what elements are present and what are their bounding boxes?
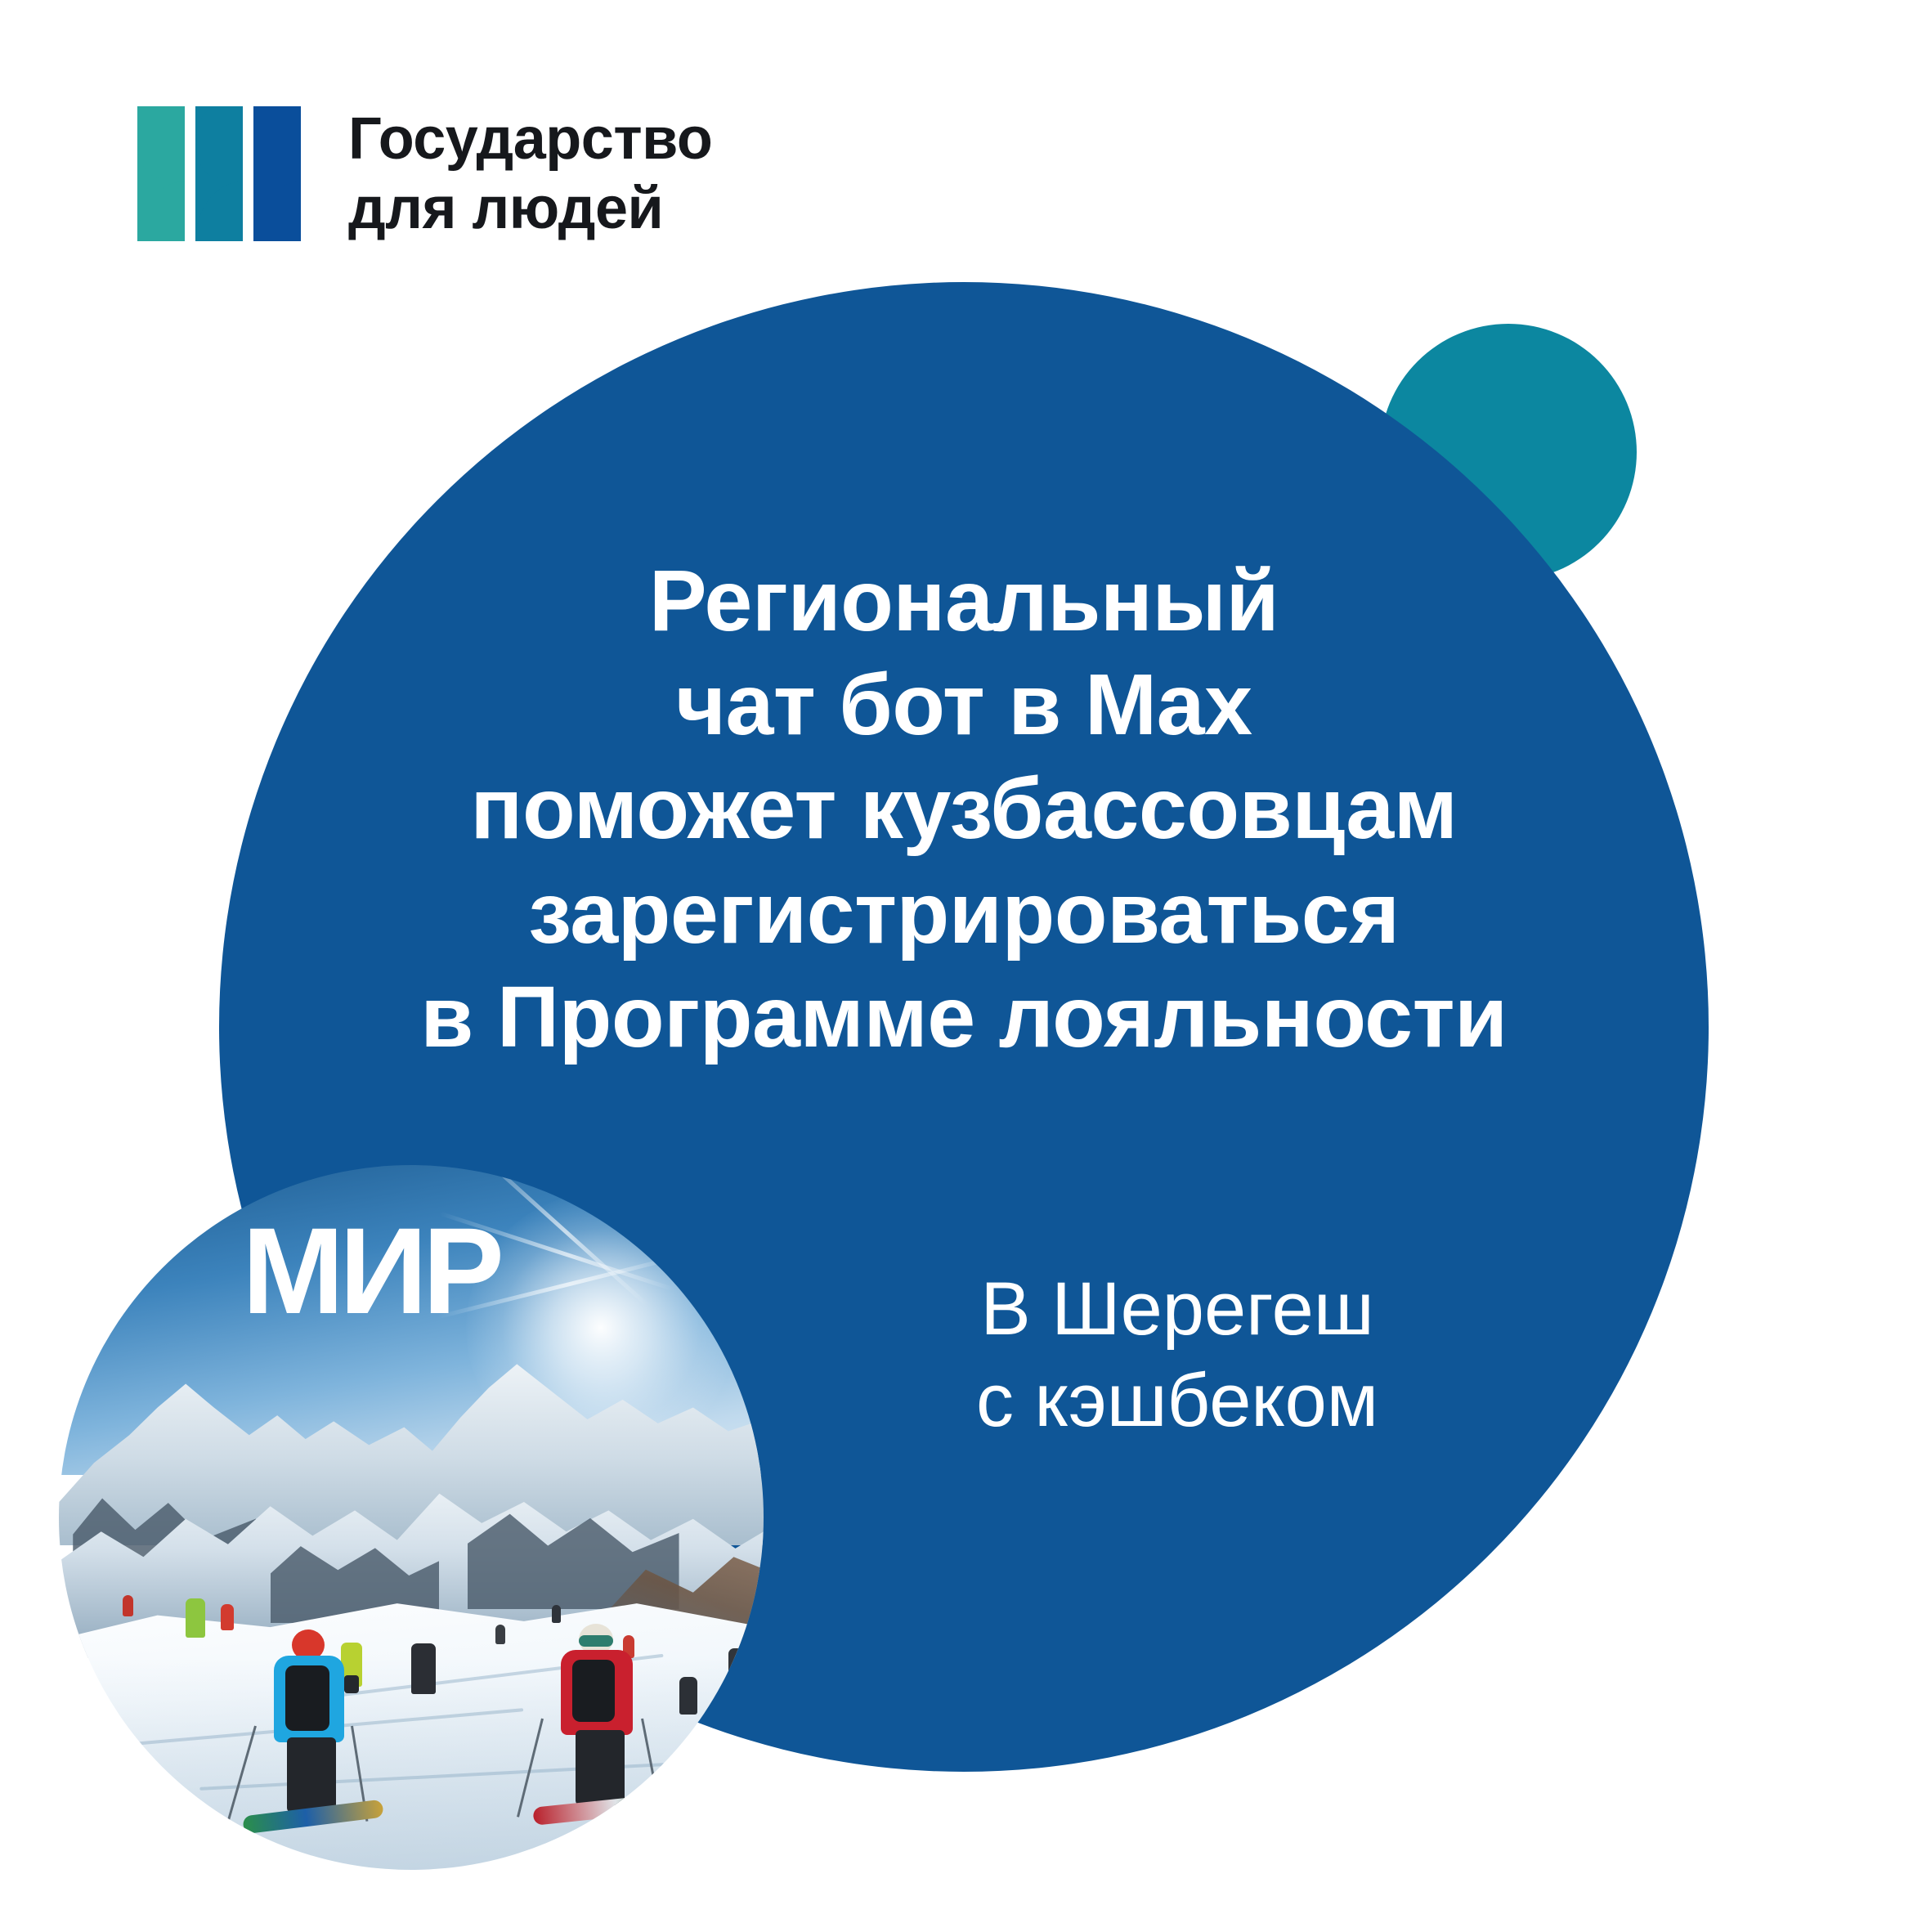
skier-red-jacket xyxy=(538,1624,661,1835)
distant-skier xyxy=(186,1598,205,1638)
subtitle-line-2: с кэшбеком xyxy=(858,1355,1496,1446)
headline-line-3: поможет кузбассовцам xyxy=(219,757,1709,861)
distant-skier xyxy=(552,1605,561,1623)
government-for-people-logo-icon xyxy=(137,106,301,241)
headline-line-5: в Программе лояльности xyxy=(219,966,1709,1069)
mid-skier-right xyxy=(679,1677,697,1715)
headline-line-4: зарегистрироваться xyxy=(219,862,1709,966)
subtitle-line-1: В Шерегеш xyxy=(858,1263,1496,1355)
mid-skier-right xyxy=(728,1648,743,1679)
logo-arc-teal xyxy=(137,106,185,241)
ski-photo-medallion: МИР xyxy=(59,1165,764,1870)
distant-skier xyxy=(495,1625,505,1644)
mid-skier-dark xyxy=(411,1643,436,1694)
headline-line-2: чат бот в Max xyxy=(219,653,1709,757)
logo-arc-dark-blue xyxy=(253,106,301,241)
brand-wordmark: Государство для людей xyxy=(348,105,712,244)
distant-skier xyxy=(123,1595,133,1616)
logo-arc-blue-teal xyxy=(195,106,243,241)
mir-wordmark: МИР xyxy=(242,1214,500,1327)
ski-scene-image: МИР xyxy=(59,1165,764,1870)
brand-logo: Государство для людей xyxy=(137,105,712,244)
headline-line-1: Региональный xyxy=(219,549,1709,653)
headline: Региональный чат бот в Max поможет кузба… xyxy=(219,549,1709,1069)
mir-payment-system-logo: МИР xyxy=(242,1214,500,1327)
distant-skier xyxy=(221,1604,234,1630)
subtitle: В Шерегеш с кэшбеком xyxy=(858,1263,1496,1446)
snowboarder-blue-jacket xyxy=(249,1629,372,1842)
promo-poster: Государство для людей Региональный чат б… xyxy=(0,0,1931,1932)
